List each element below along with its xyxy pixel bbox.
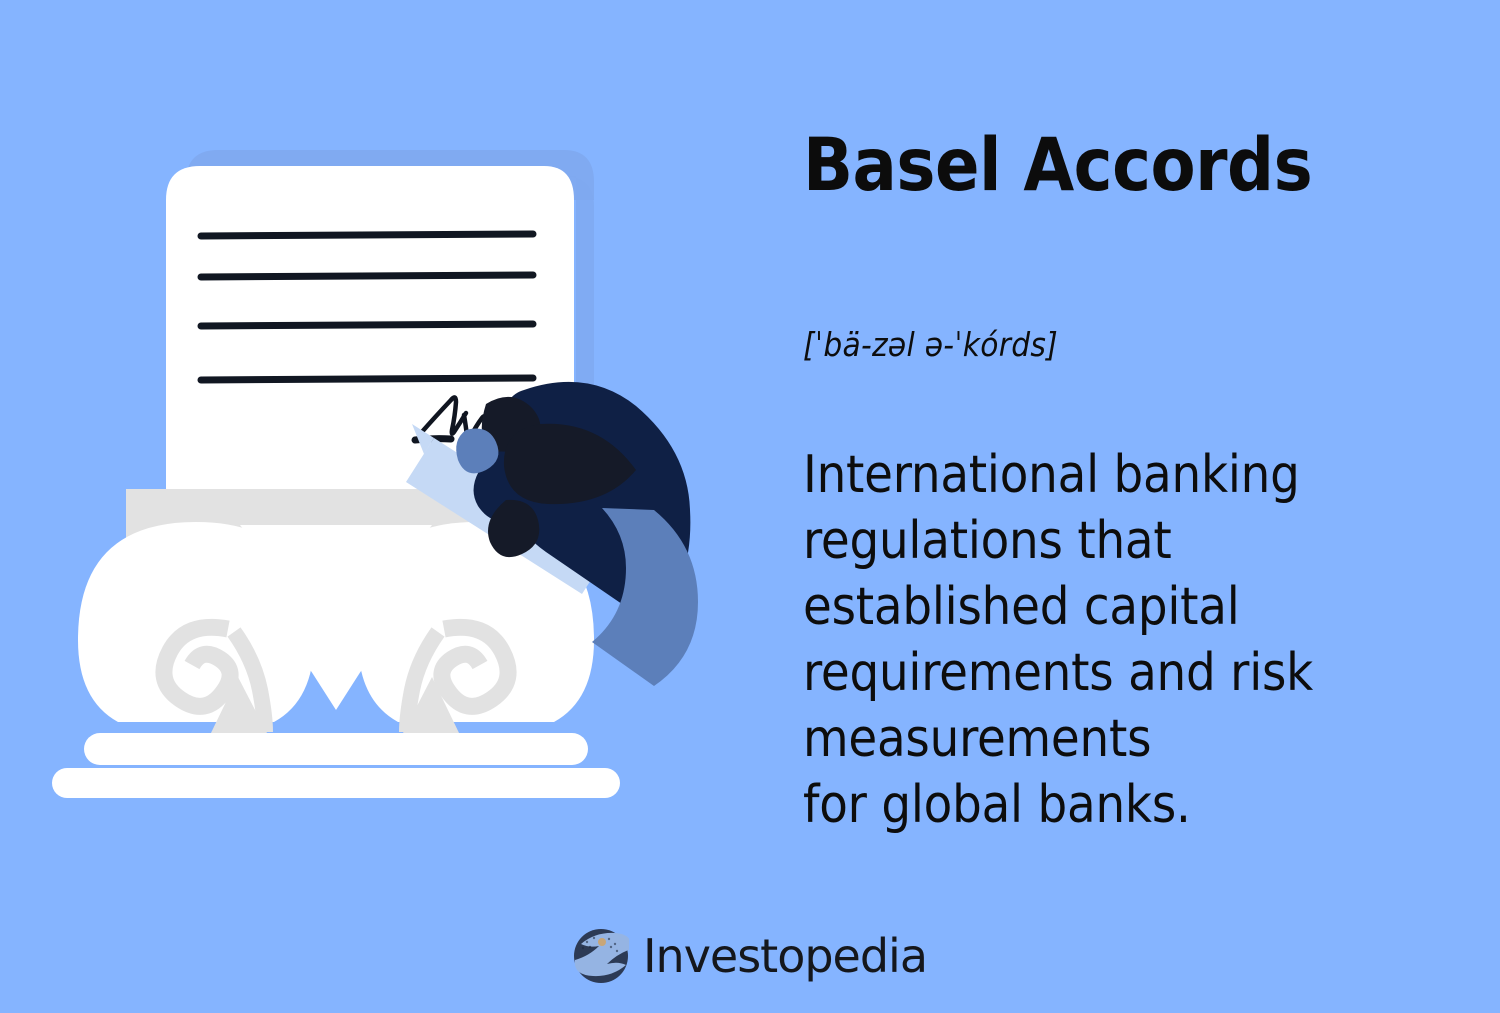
definition-line: requirements and risk	[803, 640, 1403, 706]
definition-line: International banking	[803, 442, 1403, 508]
column-base-slab	[84, 733, 588, 765]
column-plinth-slab	[52, 768, 620, 798]
investopedia-wordmark: Investopedia	[643, 933, 927, 979]
definition-line: measurements	[803, 706, 1403, 772]
ruled-line	[201, 234, 533, 236]
ruled-line	[201, 275, 533, 277]
ruled-line	[201, 378, 533, 380]
investopedia-logo: Investopedia	[0, 928, 1500, 984]
definition-line: regulations that	[803, 508, 1403, 574]
definition-text: International banking regulations that e…	[803, 442, 1403, 838]
illustration	[0, 0, 760, 900]
ruled-line	[201, 324, 533, 326]
investopedia-logo-icon	[573, 928, 629, 984]
term-title: Basel Accords	[803, 126, 1423, 206]
definition-line: established capital	[803, 574, 1403, 640]
definition-line: for global banks.	[803, 772, 1403, 838]
pronunciation: [ˈbä-zəl ə-ˈkórds]	[803, 326, 1058, 364]
definition-block: Basel Accords [ˈbä-zəl ə-ˈkórds] Interna…	[803, 126, 1423, 206]
infographic-canvas: Basel Accords [ˈbä-zəl ə-ˈkórds] Interna…	[0, 0, 1500, 1013]
